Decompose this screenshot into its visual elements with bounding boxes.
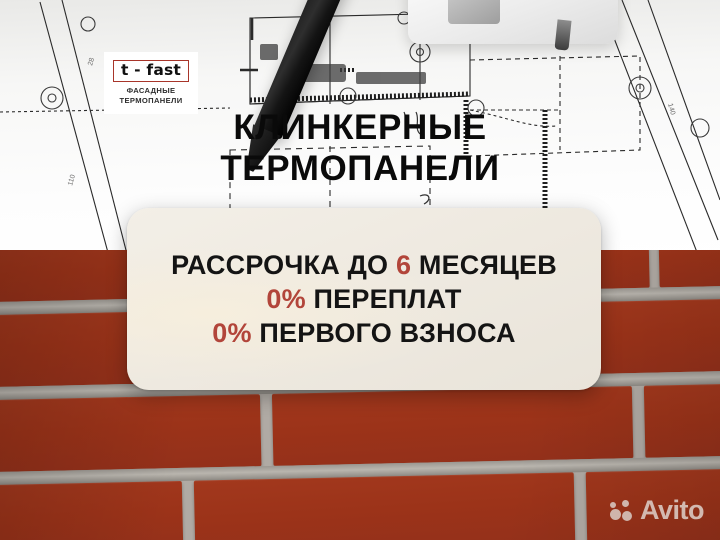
headline-line-1: КЛИНКЕРНЫЕ xyxy=(0,108,720,149)
logo-tagline-line1: ФАСАДНЫЕ xyxy=(127,86,176,95)
brand-logo: t - fast ФАСАДНЫЕ ТЕРМОПАНЕЛИ xyxy=(104,52,198,114)
avito-watermark: Avito xyxy=(610,497,704,524)
offer-line-3: 0% ПЕРВОГО ВЗНОСА xyxy=(212,316,516,350)
headline-line-2: ТЕРМОПАНЕЛИ xyxy=(0,149,720,190)
brick xyxy=(584,298,720,374)
logo-tagline-line2: ТЕРМОПАНЕЛИ xyxy=(119,96,182,105)
brick xyxy=(0,481,183,540)
advertisement-banner: 110 28 140 t - fast ФАСАДНЫЕ ТЕРМОПАНЕЛИ… xyxy=(0,0,720,540)
offer-line-2-post: ПЕРЕПЛАТ xyxy=(306,284,462,314)
logo-mark: t - fast xyxy=(113,60,189,82)
offer-line-3-post: ПЕРВОГО ВЗНОСА xyxy=(252,318,516,348)
offer-line-2: 0% ПЕРЕПЛАТ xyxy=(266,282,461,316)
avito-wordmark: Avito xyxy=(640,497,704,524)
brick xyxy=(194,472,576,540)
brick xyxy=(272,386,633,466)
offer-line-1-pre: РАССРОЧКА ДО xyxy=(171,250,396,280)
tape-measure-window xyxy=(448,0,500,24)
offer-line-1-highlight: 6 xyxy=(396,250,411,280)
avito-dots-icon xyxy=(610,500,634,522)
tape-measure-icon xyxy=(408,0,618,44)
svg-text:28: 28 xyxy=(87,57,96,67)
offer-line-3-highlight: 0% xyxy=(212,318,251,348)
logo-tagline: ФАСАДНЫЕ ТЕРМОПАНЕЛИ xyxy=(119,86,182,105)
offer-card: РАССРОЧКА ДО 6 МЕСЯЦЕВ 0% ПЕРЕПЛАТ 0% ПЕ… xyxy=(127,208,601,390)
brick xyxy=(644,383,720,458)
page-title: КЛИНКЕРНЫЕ ТЕРМОПАНЕЛИ xyxy=(0,108,720,190)
brick xyxy=(0,394,261,473)
offer-line-2-highlight: 0% xyxy=(266,284,305,314)
brick xyxy=(658,250,720,287)
offer-line-1: РАССРОЧКА ДО 6 МЕСЯЦЕВ xyxy=(171,248,557,282)
offer-line-1-post: МЕСЯЦЕВ xyxy=(411,250,557,280)
